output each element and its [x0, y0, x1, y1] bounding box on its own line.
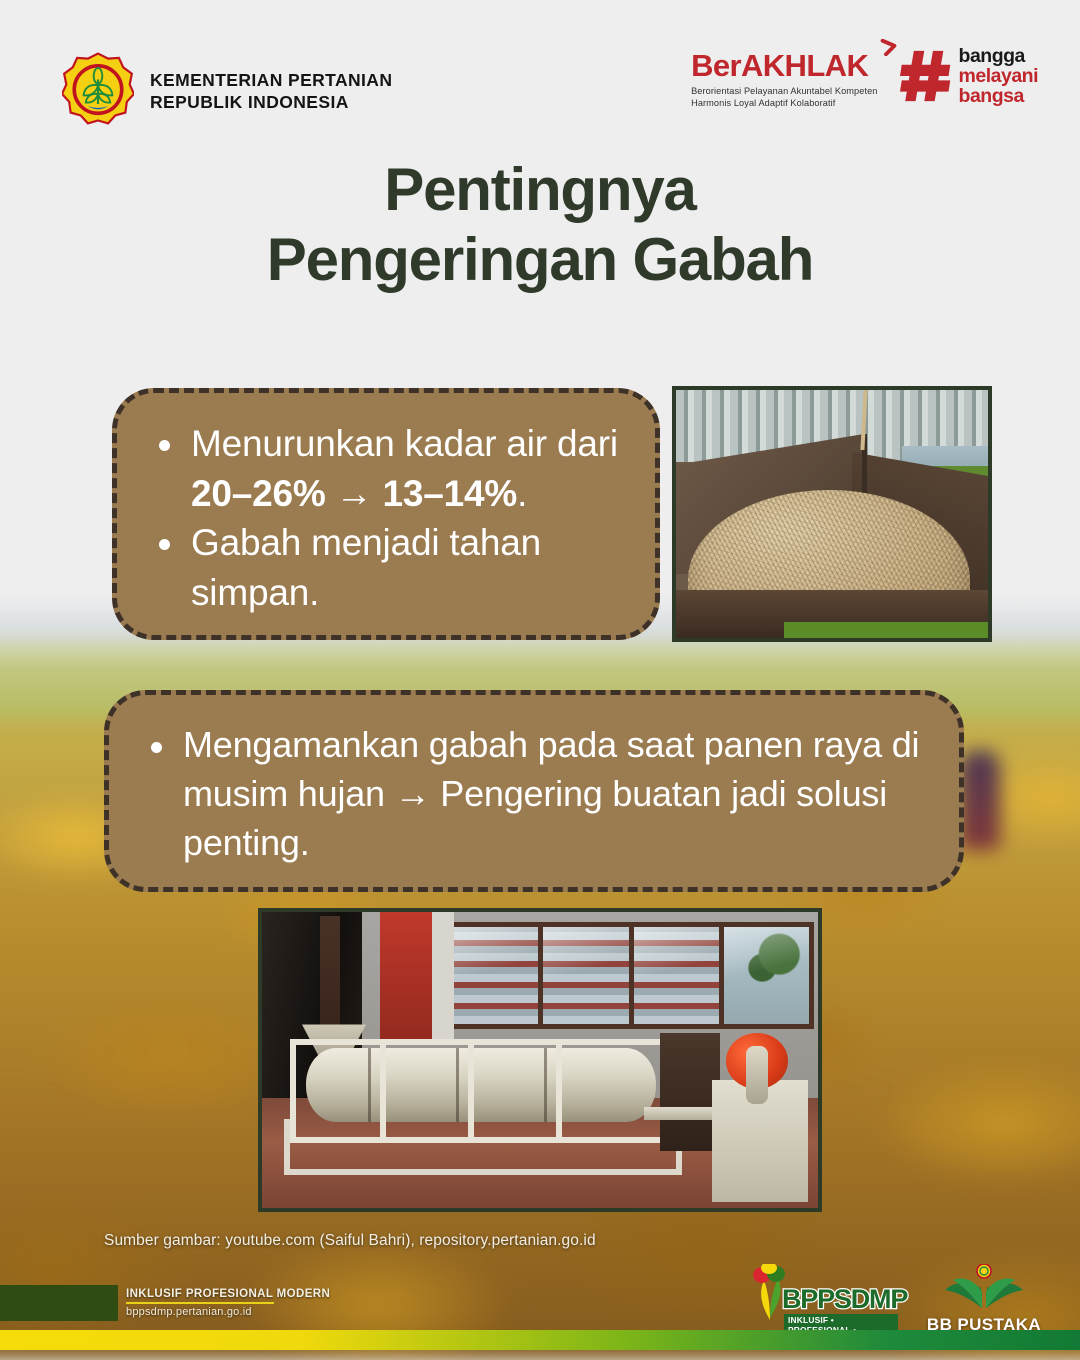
- bullet-list: Mengamankan gabah pada saat panen raya d…: [139, 721, 925, 868]
- background-farmer-figure: [960, 750, 1000, 850]
- page-title-line1: Pentingnya: [0, 155, 1080, 225]
- bangga-melayani-bangsa-logo: bangga melayani bangsa: [900, 46, 1038, 106]
- footer-tagline: INKLUSIF PROFESIONAL MODERN: [126, 1288, 330, 1300]
- bottom-accent-bar: [0, 1330, 1080, 1350]
- bangga-line3: bangsa: [959, 86, 1038, 106]
- window-pane: [724, 927, 809, 1024]
- blower-fan-icon: [726, 1033, 788, 1089]
- photo-grain-content: [676, 390, 988, 638]
- window-row: [448, 922, 814, 1029]
- ministry-name-line1: KEMENTERIAN PERTANIAN: [150, 69, 392, 91]
- hashtag-icon: [900, 49, 952, 103]
- window-pane: [634, 927, 719, 1024]
- bb-pustaka-logo: BB PUSTAKA: [924, 1264, 1044, 1336]
- berakhlak-logo: BerAKHLAK Berorientasi Pelayanan Akuntab…: [691, 46, 877, 109]
- red-column: [380, 912, 432, 1042]
- white-column: [432, 912, 454, 1042]
- bangga-line1: bangga: [959, 46, 1038, 66]
- dryer-legs: [284, 1119, 682, 1175]
- green-base: [784, 622, 992, 638]
- footer-website: bppsdmp.pertanian.go.id: [126, 1306, 330, 1318]
- window-pane: [543, 927, 628, 1024]
- ministry-name: KEMENTERIAN PERTANIAN REPUBLIK INDONESIA: [150, 69, 392, 114]
- photo-grain-in-hopper: [672, 386, 992, 642]
- bullet-text-plain: Gabah menjadi tahan simpan.: [191, 522, 541, 613]
- ministry-name-line2: REPUBLIK INDONESIA: [150, 91, 392, 113]
- bullet-text-plain: Mengamankan gabah pada saat panen raya d…: [183, 724, 919, 863]
- source-caption: Sumber gambar: youtube.com (Saiful Bahri…: [104, 1232, 744, 1250]
- header: KEMENTERIAN PERTANIAN REPUBLIK INDONESIA…: [0, 0, 1080, 150]
- bullet-list: Menurunkan kadar air dari 20–26% → 13–14…: [147, 419, 621, 617]
- footer-tagline-block: INKLUSIF PROFESIONAL MODERN bppsdmp.pert…: [0, 1285, 330, 1321]
- footer-green-block: [0, 1285, 118, 1321]
- footer-logos: BPPSDMP INKLUSIF • PROFESIONAL • MODERN …: [738, 1264, 1044, 1336]
- info-card-moisture: Menurunkan kadar air dari 20–26% → 13–14…: [112, 388, 660, 640]
- photo-dryer-content: [262, 912, 818, 1208]
- page-title: Pentingnya Pengeringan Gabah: [0, 155, 1080, 295]
- bullet-text-tail: .: [517, 473, 527, 514]
- bullet-text-plain: Menurunkan kadar air dari: [191, 423, 618, 464]
- berakhlak-values-line1: Berorientasi Pelayanan Akuntabel Kompete…: [691, 85, 877, 97]
- list-item: Gabah menjadi tahan simpan.: [147, 518, 621, 617]
- berakhlak-values-line2: Harmonis Loyal Adaptif Kolaboratif: [691, 97, 877, 109]
- footer-divider: [126, 1302, 274, 1304]
- bangga-line2: melayani: [959, 66, 1038, 86]
- ministry-lockup: KEMENTERIAN PERTANIAN REPUBLIK INDONESIA: [62, 52, 392, 130]
- bb-pustaka-book-icon: [941, 1264, 1027, 1310]
- berakhlak-wordmark: BerAKHLAK: [691, 50, 877, 81]
- air-duct-pipe: [644, 1107, 714, 1120]
- list-item: Menurunkan kadar air dari 20–26% → 13–14…: [147, 419, 621, 518]
- footer-text: INKLUSIF PROFESIONAL MODERN bppsdmp.pert…: [126, 1288, 330, 1318]
- dryer-outlet-box: [660, 1033, 720, 1151]
- bangga-wordmark: bangga melayani bangsa: [959, 46, 1038, 106]
- bullet-text-bold: 20–26% → 13–14%: [191, 473, 517, 514]
- bppsdmp-logo: BPPSDMP INKLUSIF • PROFESIONAL • MODERN: [738, 1272, 898, 1336]
- chevron-tick-icon: [880, 39, 897, 56]
- bppsdmp-name: BPPSDMP: [782, 1284, 907, 1315]
- page-title-line2: Pengeringan Gabah: [0, 225, 1080, 295]
- berakhlak-bangga-lockup: BerAKHLAK Berorientasi Pelayanan Akuntab…: [691, 46, 1038, 109]
- window-pane: [453, 927, 538, 1024]
- list-item: Mengamankan gabah pada saat panen raya d…: [139, 721, 925, 868]
- info-card-harvest-season: Mengamankan gabah pada saat panen raya d…: [104, 690, 964, 892]
- photo-rotary-dryer-machine: [258, 908, 822, 1212]
- berakhlak-values: Berorientasi Pelayanan Akuntabel Kompete…: [691, 85, 877, 109]
- kementan-padi-logo-icon: [62, 52, 134, 130]
